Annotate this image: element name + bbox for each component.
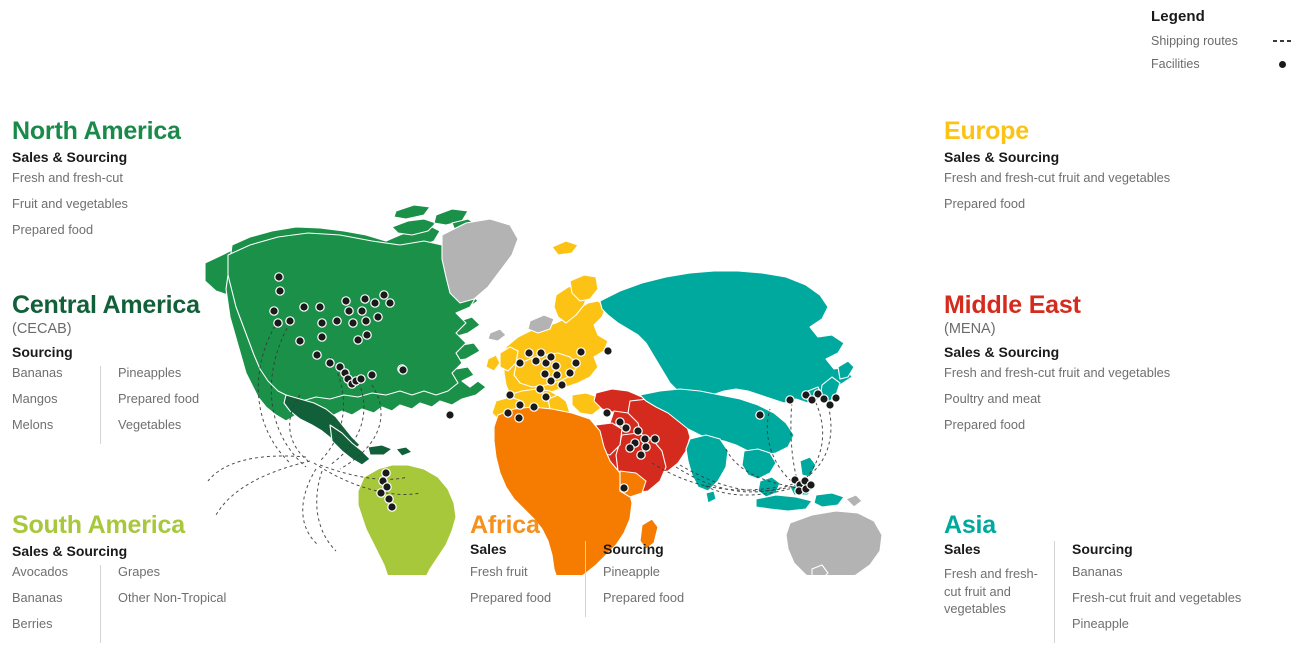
list-item: Fresh and fresh-cut fruit and vegetables <box>944 565 1042 617</box>
region-title-central-america: Central America <box>12 292 200 318</box>
list-item: Bananas <box>12 591 100 605</box>
column-left: Avocados Bananas Berries <box>12 565 100 643</box>
column-sales: Sales Fresh and fresh-cut fruit and vege… <box>944 541 1054 643</box>
column-left: Bananas Mangos Melons <box>12 366 100 444</box>
region-title-south-america: South America <box>12 512 226 538</box>
column-heading-sales: Sales <box>944 541 1054 557</box>
map-region-south-america <box>358 465 456 575</box>
region-heading-europe: Sales & Sourcing <box>944 149 1170 165</box>
column-sourcing: Sourcing Pineapple Prepared food <box>585 541 684 617</box>
map-region-middle-east <box>592 389 690 493</box>
dashed-line-icon <box>1273 40 1291 42</box>
region-title-north-america: North America <box>12 118 181 144</box>
list-item: Fresh and fresh-cut <box>12 171 181 185</box>
list-item: Prepared food <box>944 418 1170 432</box>
list-item: Bananas <box>1072 565 1241 579</box>
region-heading-middle-east: Sales & Sourcing <box>944 344 1170 360</box>
region-heading-north-america: Sales & Sourcing <box>12 149 181 165</box>
region-title-europe: Europe <box>944 118 1170 144</box>
list-item: Mangos <box>12 392 100 406</box>
list-item: Avocados <box>12 565 100 579</box>
map-region-north-america <box>205 205 486 421</box>
region-columns-asia: Sales Fresh and fresh-cut fruit and vege… <box>944 541 1241 643</box>
column-heading-sales: Sales <box>470 541 585 557</box>
list-item: Bananas <box>12 366 100 380</box>
list-item: Other Non-Tropical <box>118 591 226 605</box>
region-title-asia: Asia <box>944 512 1241 538</box>
list-item: Prepared food <box>470 591 585 605</box>
list-item: Fruit and vegetables <box>12 197 181 211</box>
list-item: Prepared food <box>118 392 199 406</box>
region-columns-south-america: Avocados Bananas Berries Grapes Other No… <box>12 565 226 643</box>
column-right: Grapes Other Non-Tropical <box>100 565 226 643</box>
region-columns-central-america: Bananas Mangos Melons Pineapples Prepare… <box>12 366 200 444</box>
region-block-asia: Asia Sales Fresh and fresh-cut fruit and… <box>944 512 1241 643</box>
list-item: Poultry and meat <box>944 392 1170 406</box>
dot-icon <box>1279 61 1286 68</box>
list-item: Vegetables <box>118 418 199 432</box>
region-block-north-america: North America Sales & Sourcing Fresh and… <box>12 118 181 249</box>
legend-row-shipping-routes: Shipping routes <box>1151 34 1291 48</box>
list-item: Pineapple <box>1072 617 1241 631</box>
region-subtitle-middle-east: (MENA) <box>944 321 1170 338</box>
list-item: Berries <box>12 617 100 631</box>
region-block-central-america: Central America (CECAB) Sourcing Bananas… <box>12 292 200 444</box>
list-item: Melons <box>12 418 100 432</box>
region-subtitle-central-america: (CECAB) <box>12 321 200 338</box>
list-item: Pineapples <box>118 366 199 380</box>
region-block-south-america: South America Sales & Sourcing Avocados … <box>12 512 226 643</box>
list-item: Prepared food <box>603 591 684 605</box>
column-heading-sourcing: Sourcing <box>1072 541 1241 557</box>
facility-dots <box>270 273 840 511</box>
region-block-africa: Africa Sales Fresh fruit Prepared food S… <box>470 512 684 617</box>
column-right: Pineapples Prepared food Vegetables <box>100 366 199 444</box>
column-heading-sourcing: Sourcing <box>603 541 684 557</box>
region-columns-africa: Sales Fresh fruit Prepared food Sourcing… <box>470 541 684 617</box>
list-item: Fresh-cut fruit and vegetables <box>1072 591 1241 605</box>
legend: Legend Shipping routes Facilities <box>1151 8 1291 80</box>
region-title-africa: Africa <box>470 512 684 538</box>
map-region-central-america <box>284 395 412 465</box>
region-block-middle-east: Middle East (MENA) Sales & Sourcing Fres… <box>944 292 1170 444</box>
map-region-asia <box>600 271 854 511</box>
region-heading-south-america: Sales & Sourcing <box>12 543 226 559</box>
region-block-europe: Europe Sales & Sourcing Fresh and fresh-… <box>944 118 1170 223</box>
legend-row-facilities: Facilities <box>1151 57 1291 71</box>
list-item: Grapes <box>118 565 226 579</box>
list-item: Pineapple <box>603 565 684 579</box>
map-region-inactive-iceland <box>488 315 554 341</box>
list-item: Fresh and fresh-cut fruit and vegetables <box>944 366 1170 380</box>
list-item: Prepared food <box>12 223 181 237</box>
list-item: Fresh fruit <box>470 565 585 579</box>
map-region-greenland <box>442 219 518 303</box>
column-sourcing: Sourcing Bananas Fresh-cut fruit and veg… <box>1054 541 1241 643</box>
region-title-middle-east: Middle East <box>944 292 1170 318</box>
legend-title: Legend <box>1151 8 1291 25</box>
map-inactive-specks <box>846 495 862 507</box>
column-sales: Sales Fresh fruit Prepared food <box>470 541 585 617</box>
map-region-oceania-inactive <box>786 511 902 575</box>
list-item: Fresh and fresh-cut fruit and vegetables <box>944 171 1170 185</box>
map-region-europe <box>486 241 608 423</box>
region-heading-central-america: Sourcing <box>12 344 200 360</box>
legend-label-facilities: Facilities <box>1151 57 1200 71</box>
list-item: Prepared food <box>944 197 1170 211</box>
legend-label-shipping-routes: Shipping routes <box>1151 34 1238 48</box>
